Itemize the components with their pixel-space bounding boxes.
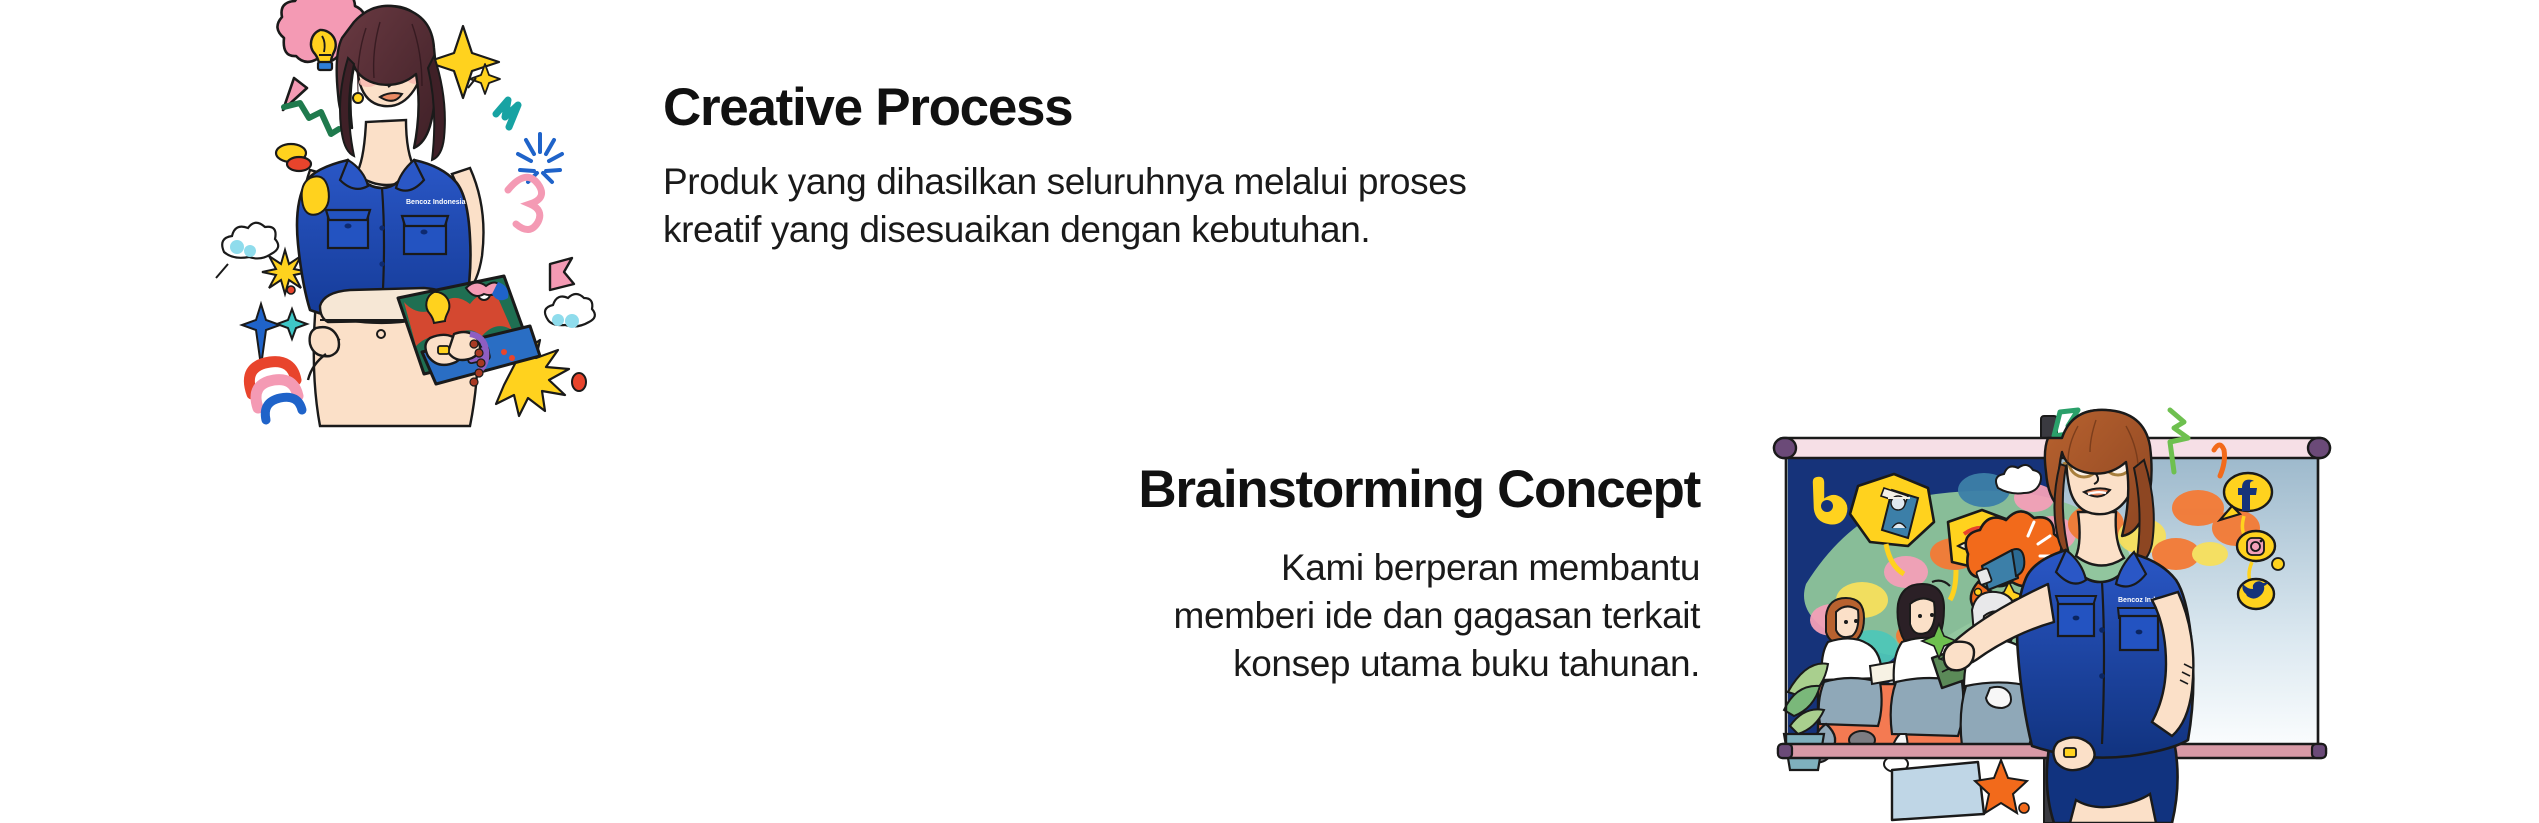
shirt-logo-text: Bencoz Indonesia	[406, 199, 466, 206]
laptop-on-desk	[1892, 762, 1984, 820]
creative-process-text-block: Creative Process Produk yang dihasilkan …	[663, 80, 1663, 254]
brainstorming-concept-heading: Brainstorming Concept	[700, 462, 1700, 518]
teal-zigzag-icon	[496, 100, 518, 127]
green-zigzag-icon	[284, 103, 339, 134]
pink-flag-icon	[550, 258, 574, 290]
teal-small-star-icon	[277, 309, 307, 339]
twitter-bubble	[2238, 579, 2274, 609]
red-blob-icon	[287, 157, 311, 171]
orange-ribbon-icon	[249, 362, 302, 420]
brainstorming-concept-text-block: Brainstorming Concept Kami berperan memb…	[700, 462, 1700, 688]
woman-figure: Bencoz Indonesia	[297, 6, 540, 426]
pink-squiggle-icon	[508, 177, 542, 229]
cloud-puff-right-icon	[545, 294, 595, 328]
page-root: Bencoz Indonesia	[0, 0, 2539, 823]
woman-with-laptop-illustration: Bencoz Indonesia	[198, 2, 604, 426]
creative-process-heading: Creative Process	[663, 80, 1663, 136]
creative-process-body: Produk yang dihasilkan seluruhnya melalu…	[663, 158, 1663, 254]
instagram-bubble	[2237, 531, 2275, 561]
presentation-screen-illustration: Bencoz Indonesia	[1766, 404, 2356, 823]
brainstorming-concept-body: Kami berperan membantu memberi ide dan g…	[700, 544, 1700, 688]
